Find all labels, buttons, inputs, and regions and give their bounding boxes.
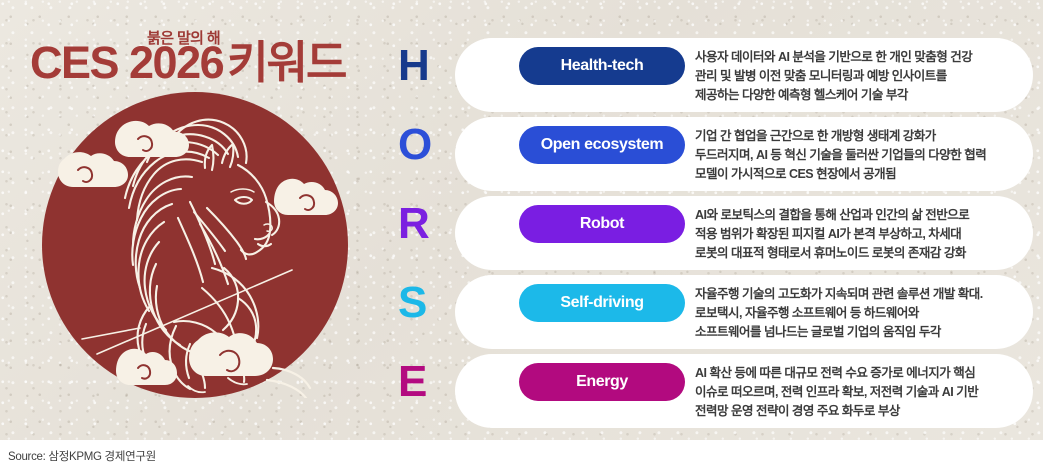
desc-line: 이슈로 떠오르며, 전력 인프라 확보, 저전력 기술과 AI 기반: [695, 383, 1015, 402]
keyword-description-robot: AI와 로보틱스의 결합을 통해 산업과 인간의 삶 전반으로 적용 범위가 확…: [695, 206, 1015, 263]
acronym-letter-o: O: [398, 123, 444, 167]
page-title: CES 2026키워드: [30, 40, 345, 85]
keyword-row-open-ecosystem: O Open ecosystem 기업 간 협업을 근간으로 한 개방형 생태계…: [398, 117, 1033, 194]
desc-line: 자율주행 기술의 고도화가 지속되며 관련 솔루션 개발 확대.: [695, 285, 1015, 304]
keyword-label-energy: Energy: [576, 373, 628, 391]
keyword-row-self-driving: S Self-driving 자율주행 기술의 고도화가 지속되며 관련 솔루션…: [398, 275, 1033, 352]
desc-line: 두드러지며, AI 등 혁신 기술을 둘러싼 기업들의 다양한 협력: [695, 146, 1015, 165]
keyword-panel-energy: Energy AI 확산 등에 따른 대규모 전력 수요 증가로 에너지가 핵심…: [455, 354, 1033, 428]
running-horse-medallion-icon: [42, 92, 348, 398]
keyword-description-health-tech: 사용자 데이터와 AI 분석을 기반으로 한 개인 맞춤형 건강 관리 및 발병…: [695, 48, 1015, 105]
keyword-description-self-driving: 자율주행 기술의 고도화가 지속되며 관련 솔루션 개발 확대. 로보택시, 자…: [695, 285, 1015, 342]
keyword-pill-open-ecosystem[interactable]: Open ecosystem: [519, 126, 685, 164]
desc-line: 제공하는 다양한 예측형 헬스케어 기술 부각: [695, 86, 1015, 105]
keyword-panel-self-driving: Self-driving 자율주행 기술의 고도화가 지속되며 관련 솔루션 개…: [455, 275, 1033, 349]
keyword-pill-robot[interactable]: Robot: [519, 205, 685, 243]
keyword-label-robot: Robot: [580, 215, 624, 233]
acronym-letter-r: R: [398, 202, 444, 246]
keyword-pill-self-driving[interactable]: Self-driving: [519, 284, 685, 322]
desc-line: 모델이 가시적으로 CES 현장에서 공개됨: [695, 165, 1015, 184]
desc-line: 관리 및 발병 이전 맞춤 모니터링과 예방 인사이트를: [695, 67, 1015, 86]
desc-line: 로보택시, 자율주행 소프트웨어 등 하드웨어와: [695, 304, 1015, 323]
title-main-suffix: 키워드: [227, 37, 345, 88]
footer: Source: 삼정KPMG 경제연구원: [0, 440, 1043, 472]
keyword-label-open-ecosystem: Open ecosystem: [541, 136, 663, 154]
desc-line: AI와 로보틱스의 결합을 통해 산업과 인간의 삶 전반으로: [695, 206, 1015, 225]
desc-line: 전력망 운영 전략이 경영 주요 화두로 부상: [695, 402, 1015, 421]
keyword-row-energy: E Energy AI 확산 등에 따른 대규모 전력 수요 증가로 에너지가 …: [398, 354, 1033, 431]
desc-line: 소프트웨어를 넘나드는 글로벌 기업의 움직임 두각: [695, 323, 1015, 342]
acronym-letter-h: H: [398, 44, 444, 88]
keyword-panel-open-ecosystem: Open ecosystem 기업 간 협업을 근간으로 한 개방형 생태계 강…: [455, 117, 1033, 191]
keyword-panel-robot: Robot AI와 로보틱스의 결합을 통해 산업과 인간의 삶 전반으로 적용…: [455, 196, 1033, 270]
infographic-canvas: 붉은 말의 해 CES 2026키워드: [0, 0, 1043, 440]
acronym-letter-s: S: [398, 281, 444, 325]
title-block: 붉은 말의 해 CES 2026키워드: [30, 22, 390, 102]
keyword-row-health-tech: H Health-tech 사용자 데이터와 AI 분석을 기반으로 한 개인 …: [398, 38, 1033, 115]
keyword-row-robot: R Robot AI와 로보틱스의 결합을 통해 산업과 인간의 삶 전반으로 …: [398, 196, 1033, 273]
keyword-pill-energy[interactable]: Energy: [519, 363, 685, 401]
desc-line: AI 확산 등에 따른 대규모 전력 수요 증가로 에너지가 핵심: [695, 364, 1015, 383]
acronym-letter-e: E: [398, 360, 444, 404]
desc-line: 적용 범위가 확장된 피지컬 AI가 본격 부상하고, 차세대: [695, 225, 1015, 244]
keyword-pill-health-tech[interactable]: Health-tech: [519, 47, 685, 85]
keyword-description-open-ecosystem: 기업 간 협업을 근간으로 한 개방형 생태계 강화가 두드러지며, AI 등 …: [695, 127, 1015, 184]
desc-line: 기업 간 협업을 근간으로 한 개방형 생태계 강화가: [695, 127, 1015, 146]
keyword-panel-health-tech: Health-tech 사용자 데이터와 AI 분석을 기반으로 한 개인 맞춤…: [455, 38, 1033, 112]
desc-line: 로봇의 대표적 형태로서 휴머노이드 로봇의 존재감 강화: [695, 244, 1015, 263]
source-label: Source: 삼정KPMG 경제연구원: [8, 448, 156, 464]
keyword-description-energy: AI 확산 등에 따른 대규모 전력 수요 증가로 에너지가 핵심 이슈로 떠오…: [695, 364, 1015, 421]
title-main-prefix: CES 2026: [30, 37, 223, 88]
keyword-rows: H Health-tech 사용자 데이터와 AI 분석을 기반으로 한 개인 …: [398, 38, 1033, 433]
desc-line: 사용자 데이터와 AI 분석을 기반으로 한 개인 맞춤형 건강: [695, 48, 1015, 67]
keyword-label-self-driving: Self-driving: [560, 294, 643, 312]
keyword-label-health-tech: Health-tech: [561, 57, 644, 75]
